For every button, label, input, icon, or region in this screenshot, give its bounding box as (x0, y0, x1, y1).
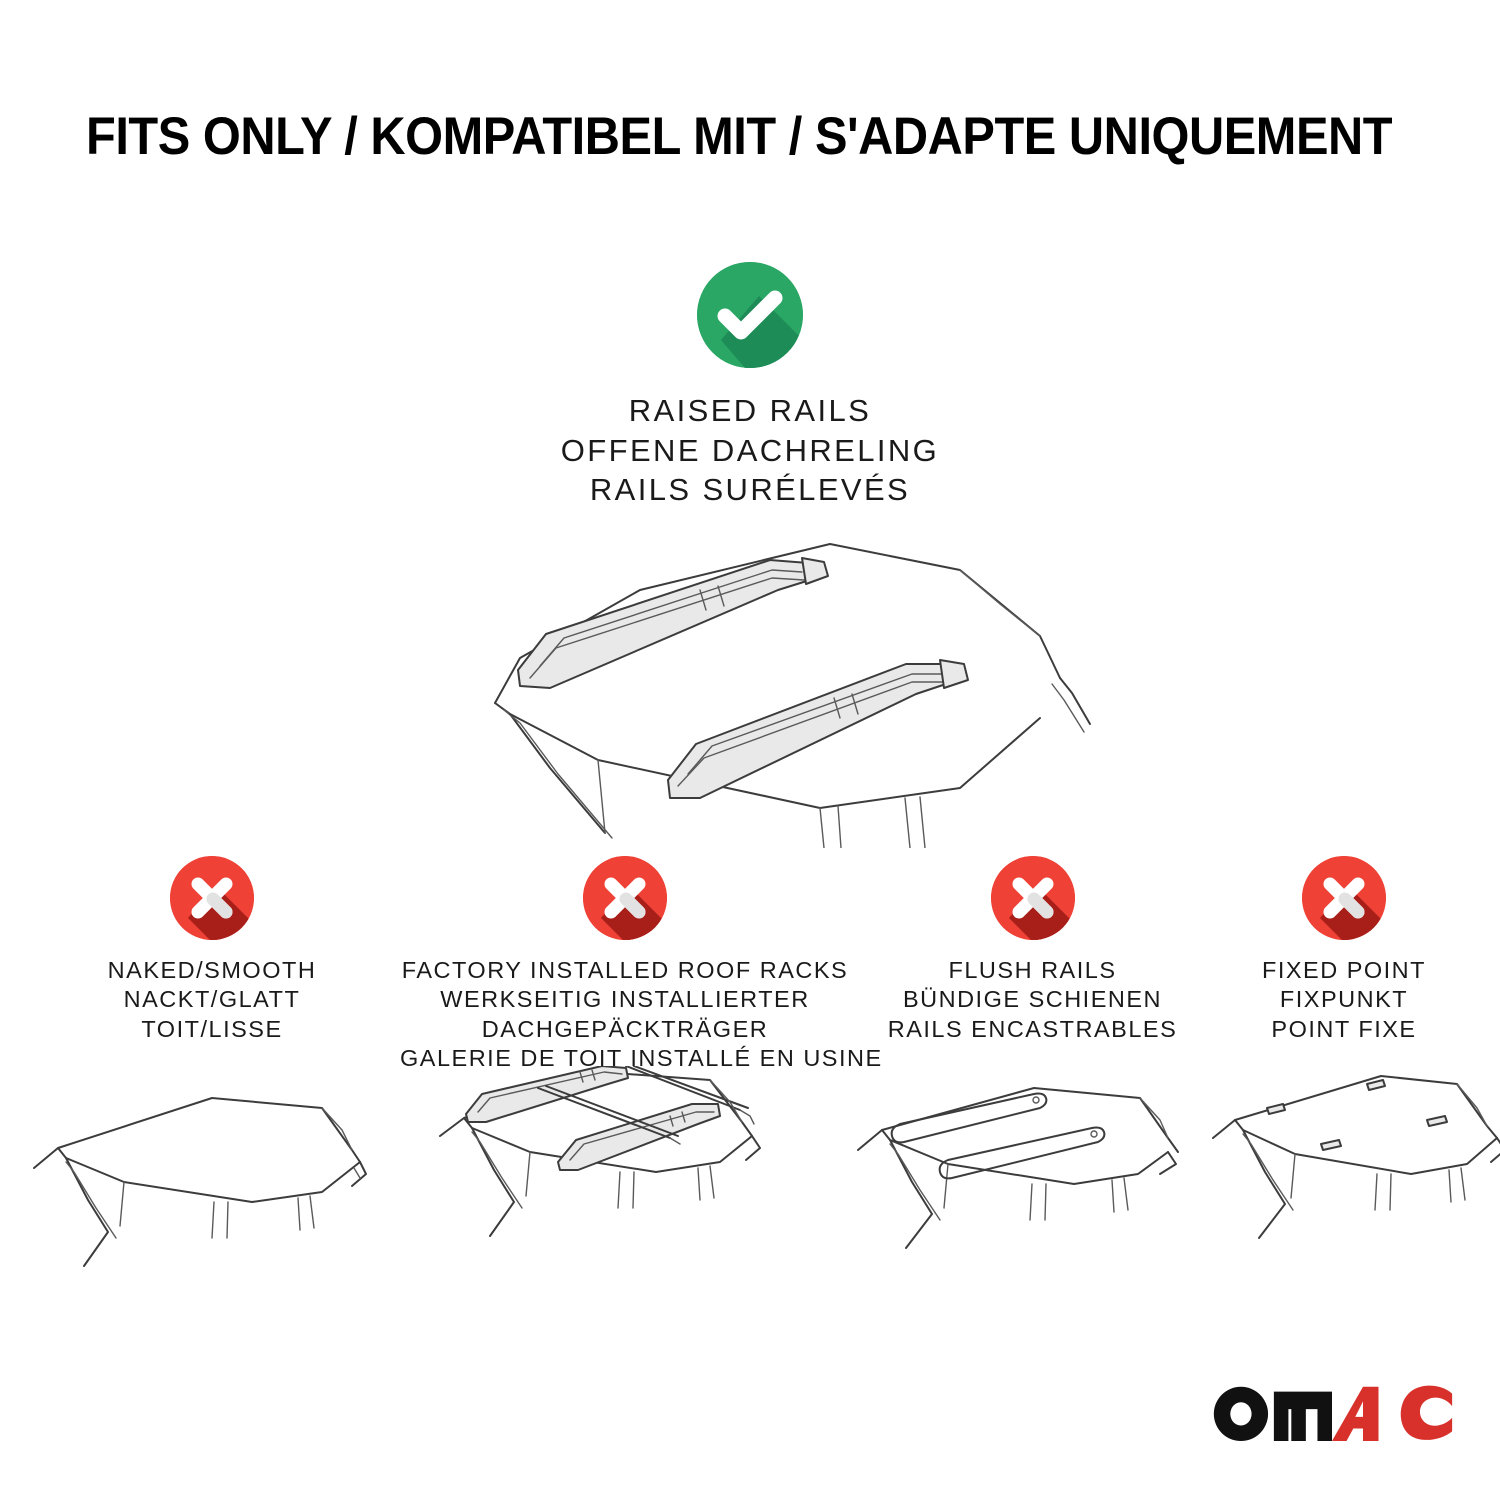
compatible-label-line-2: OFFENE DACHRELING (250, 431, 1250, 471)
incompatible-label-flush-rails: FLUSH RAILS BÜNDIGE SCHIENEN RAILS ENCAS… (845, 956, 1220, 1044)
compatible-label: RAISED RAILS OFFENE DACHRELING RAILS SUR… (250, 391, 1250, 510)
label-line-3: DACHGEPÄCKTRÄGER (400, 1015, 850, 1044)
label-line-2: BÜNDIGE SCHIENEN (845, 985, 1220, 1014)
incompatible-label-naked-smooth: NAKED/SMOOTH NACKT/GLATT TOIT/LISSE (12, 956, 412, 1044)
omac-logo (1208, 1380, 1456, 1442)
x-circle-icon (583, 856, 667, 940)
x-circle-icon (1302, 856, 1386, 940)
car-roof-with-raised-rails-illustration (400, 518, 1100, 848)
label-line-3: RAILS ENCASTRABLES (845, 1015, 1220, 1044)
incompatible-block-fixed-point: FIXED POINT FIXPUNKT POINT FIXE (1205, 856, 1483, 1320)
x-circle-icon (991, 856, 1075, 940)
car-roof-with-flush-rails-illustration (848, 1070, 1218, 1320)
incompatible-label-factory-roof-racks: FACTORY INSTALLED ROOF RACKS WERKSEITIG … (400, 956, 850, 1074)
x-circle-icon (170, 856, 254, 940)
check-circle-icon (697, 262, 803, 368)
compatible-label-line-3: RAILS SURÉLEVÉS (250, 470, 1250, 510)
label-line-2: FIXPUNKT (1205, 985, 1483, 1014)
car-roof-with-rails-and-crossbars-illustration (430, 1066, 820, 1316)
label-line-1: FACTORY INSTALLED ROOF RACKS (400, 956, 850, 985)
car-roof-with-fixed-points-illustration (1205, 1070, 1500, 1320)
compatible-roof-type-block: RAISED RAILS OFFENE DACHRELING RAILS SUR… (250, 262, 1250, 853)
page-title: FITS ONLY / KOMPATIBEL MIT / S'ADAPTE UN… (86, 106, 1319, 167)
compatible-label-line-1: RAISED RAILS (250, 391, 1250, 431)
label-line-2: WERKSEITIG INSTALLIERTER (400, 985, 850, 1014)
label-line-1: FIXED POINT (1205, 956, 1483, 985)
label-line-3: TOIT/LISSE (12, 1015, 412, 1044)
incompatible-block-factory-roof-racks: FACTORY INSTALLED ROOF RACKS WERKSEITIG … (400, 856, 850, 1316)
incompatible-label-fixed-point: FIXED POINT FIXPUNKT POINT FIXE (1205, 956, 1483, 1044)
incompatible-block-flush-rails: FLUSH RAILS BÜNDIGE SCHIENEN RAILS ENCAS… (845, 856, 1220, 1320)
label-line-1: FLUSH RAILS (845, 956, 1220, 985)
incompatible-block-naked-smooth: NAKED/SMOOTH NACKT/GLATT TOIT/LISSE (12, 856, 412, 1320)
car-roof-plain-illustration (22, 1070, 402, 1320)
label-line-1: NAKED/SMOOTH (12, 956, 412, 985)
label-line-3: POINT FIXE (1205, 1015, 1483, 1044)
label-line-2: NACKT/GLATT (12, 985, 412, 1014)
